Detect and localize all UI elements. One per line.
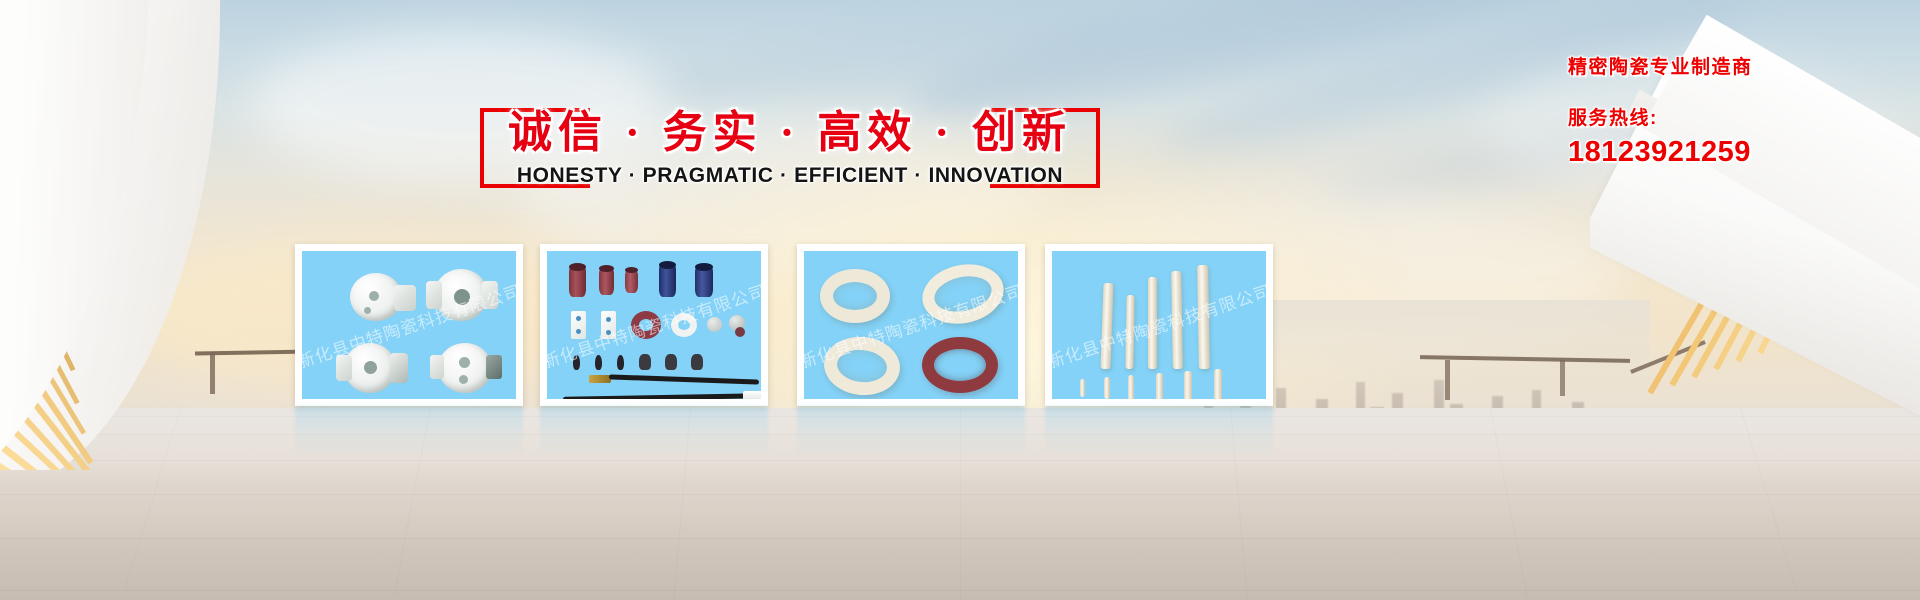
panel-reflection-1 xyxy=(295,406,523,466)
panel-watermark: 新化县中特陶瓷科技有限公司 xyxy=(1052,277,1266,373)
headline-block: 诚信 · 务实 · 高效 · 创新 HONESTY · PRAGMATIC · … xyxy=(480,108,1100,208)
contact-info-block: 精密陶瓷专业制造商 服务热线: 18123921259 xyxy=(1568,52,1908,169)
product-panel-ceramic-rings[interactable]: 新化县中特陶瓷科技有限公司 xyxy=(797,244,1025,406)
hotline-phone-number[interactable]: 18123921259 xyxy=(1568,136,1908,169)
hotline-label: 服务热线: xyxy=(1568,103,1908,130)
company-tagline: 精密陶瓷专业制造商 xyxy=(1568,52,1908,79)
architecture-wing-left xyxy=(0,0,300,470)
panel-reflection-3 xyxy=(797,406,1025,466)
product-panel-ceramic-rods[interactable]: 新化县中特陶瓷科技有限公司 xyxy=(1045,244,1273,406)
panel-reflection-4 xyxy=(1045,406,1273,466)
product-panel-ceramic-lamp-holders[interactable]: 新化县中特陶瓷科技有限公司 xyxy=(295,244,523,406)
product-banner: 诚信 · 务实 · 高效 · 创新 HONESTY · PRAGMATIC · … xyxy=(0,0,1920,600)
slogan-english: HONESTY · PRAGMATIC · EFFICIENT · INNOVA… xyxy=(480,164,1100,188)
panel-reflection-2 xyxy=(540,406,768,466)
product-panel-ceramic-tubes-and-wires[interactable]: 新化县中特陶瓷科技有限公司 xyxy=(540,244,768,406)
slogan-chinese: 诚信 · 务实 · 高效 · 创新 xyxy=(480,96,1100,160)
